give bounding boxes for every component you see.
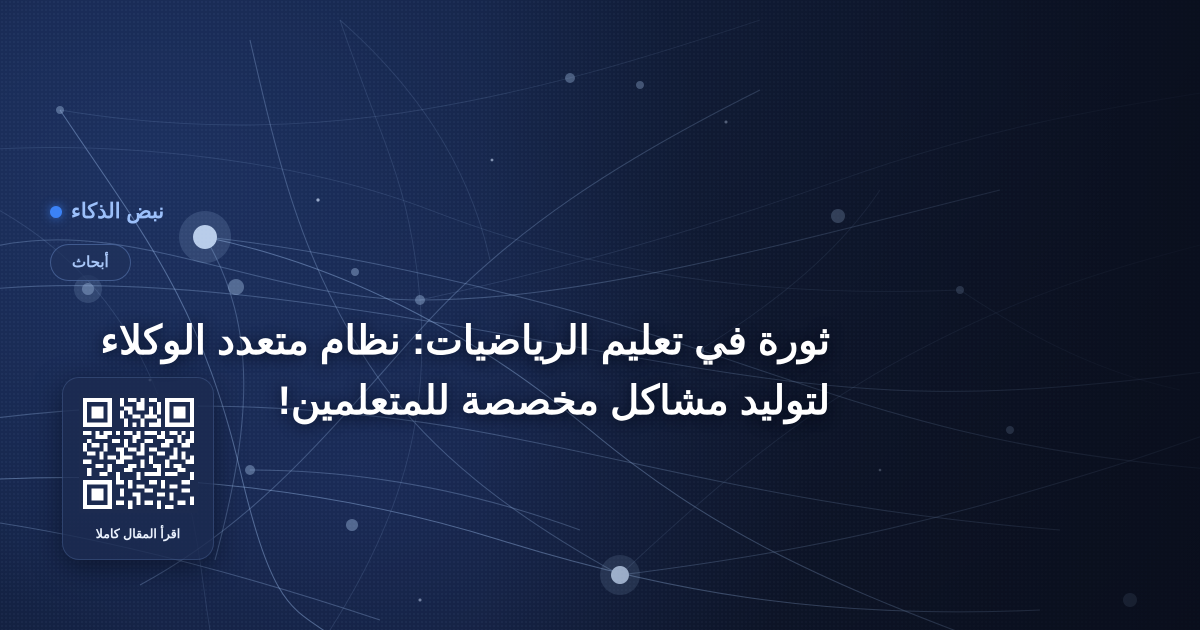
card-content: نبض الذكاء أبحاث ثورة في تعليم الرياضيات… [50,0,1200,630]
brand-name: نبض الذكاء [71,199,164,224]
category-badge[interactable]: أبحاث [50,244,131,281]
brand-label: نبض الذكاء [50,199,164,224]
title-line-1: ثورة في تعليم الرياضيات: نظام متعدد الوك… [100,319,830,363]
title-line-2: لتوليد مشاكل مخصصة للمتعلمين! [278,379,830,423]
brand-dot-icon [50,206,62,218]
social-share-card: اقرأ المقال كاملا نبض الذكاء أبحاث ثورة … [0,0,1200,630]
page-title: ثورة في تعليم الرياضيات: نظام متعدد الوك… [50,311,830,431]
